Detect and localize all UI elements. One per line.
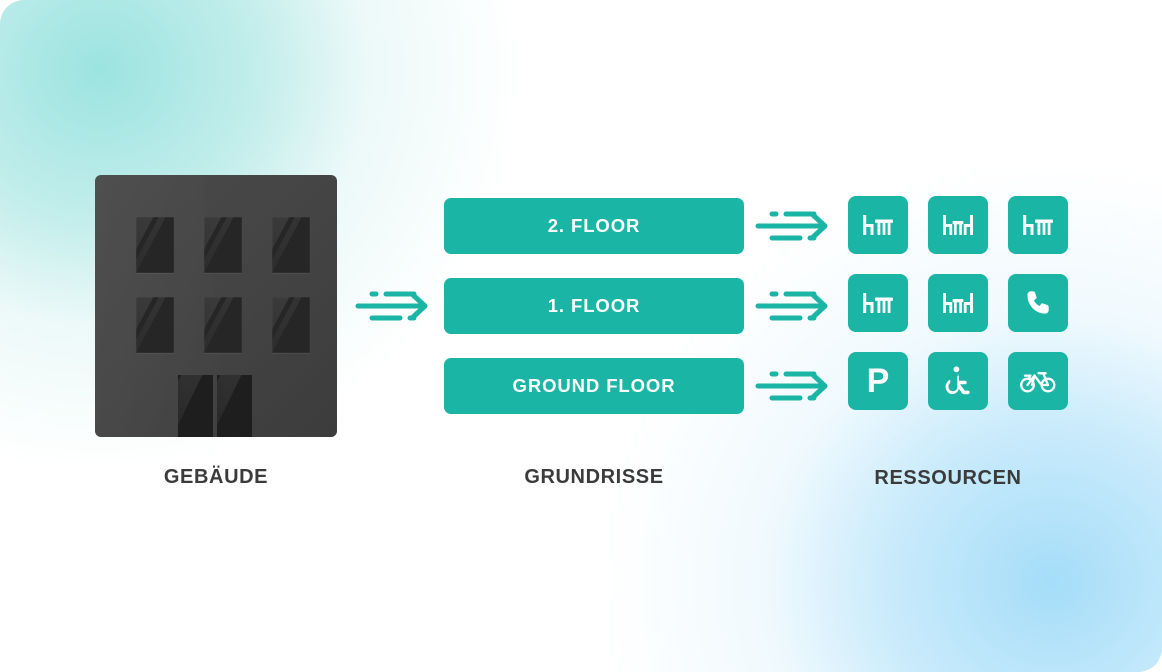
meeting-room-icon (941, 210, 975, 240)
desk-icon (861, 210, 895, 240)
arrow-floor-2-to-resources (755, 206, 837, 246)
resource-tile-phone-booth[interactable] (1008, 274, 1068, 332)
bicycle-icon (1020, 368, 1056, 394)
resource-tile-desk[interactable] (848, 196, 908, 254)
resource-row: P (848, 352, 1068, 410)
resource-tile-accessible-parking[interactable] (928, 352, 988, 410)
building-window (136, 297, 174, 353)
office-building-illustration (95, 175, 337, 437)
caption-ressourcen: RESSOURCEN (838, 467, 1058, 490)
parking-icon: P (867, 364, 890, 398)
building-window (204, 297, 242, 353)
resource-row (848, 196, 1068, 254)
resource-tile-meeting-room[interactable] (928, 196, 988, 254)
building-window (272, 217, 310, 273)
floorplan-column: 2. FLOOR 1. FLOOR GROUND FLOOR (444, 198, 744, 414)
resource-tile-desk[interactable] (848, 274, 908, 332)
building-column (95, 175, 337, 437)
caption-gebaeude: GEBÄUDE (95, 466, 337, 489)
resource-row (848, 274, 1068, 332)
resource-tile-desk[interactable] (1008, 196, 1068, 254)
floor-button-floor-2[interactable]: 2. FLOOR (444, 198, 744, 254)
resource-column: P (848, 196, 1068, 410)
desk-icon (1021, 210, 1055, 240)
building-door (178, 375, 213, 437)
diagram-stage: GEBÄUDE 2. FLOOR 1. FLOOR GROUND FLOOR G… (0, 0, 1162, 672)
meeting-room-icon (941, 288, 975, 318)
arrow-floor-1-to-resources (755, 286, 837, 326)
resource-tile-bicycle-parking[interactable] (1008, 352, 1068, 410)
floor-button-floor-ground[interactable]: GROUND FLOOR (444, 358, 744, 414)
resource-tile-meeting-room[interactable] (928, 274, 988, 332)
phone-booth-icon (1023, 288, 1053, 318)
resource-tile-parking[interactable]: P (848, 352, 908, 410)
desk-icon (861, 288, 895, 318)
floor-button-floor-1[interactable]: 1. FLOOR (444, 278, 744, 334)
building-window (272, 297, 310, 353)
building-door (217, 375, 252, 437)
wheelchair-icon (943, 365, 973, 397)
caption-grundrisse: GRUNDRISSE (444, 466, 744, 489)
diagram-canvas: GEBÄUDE 2. FLOOR 1. FLOOR GROUND FLOOR G… (0, 0, 1162, 672)
building-window (204, 217, 242, 273)
building-window (136, 217, 174, 273)
arrow-ground-floor-to-resources (755, 366, 837, 406)
arrow-building-to-floors (355, 286, 437, 326)
